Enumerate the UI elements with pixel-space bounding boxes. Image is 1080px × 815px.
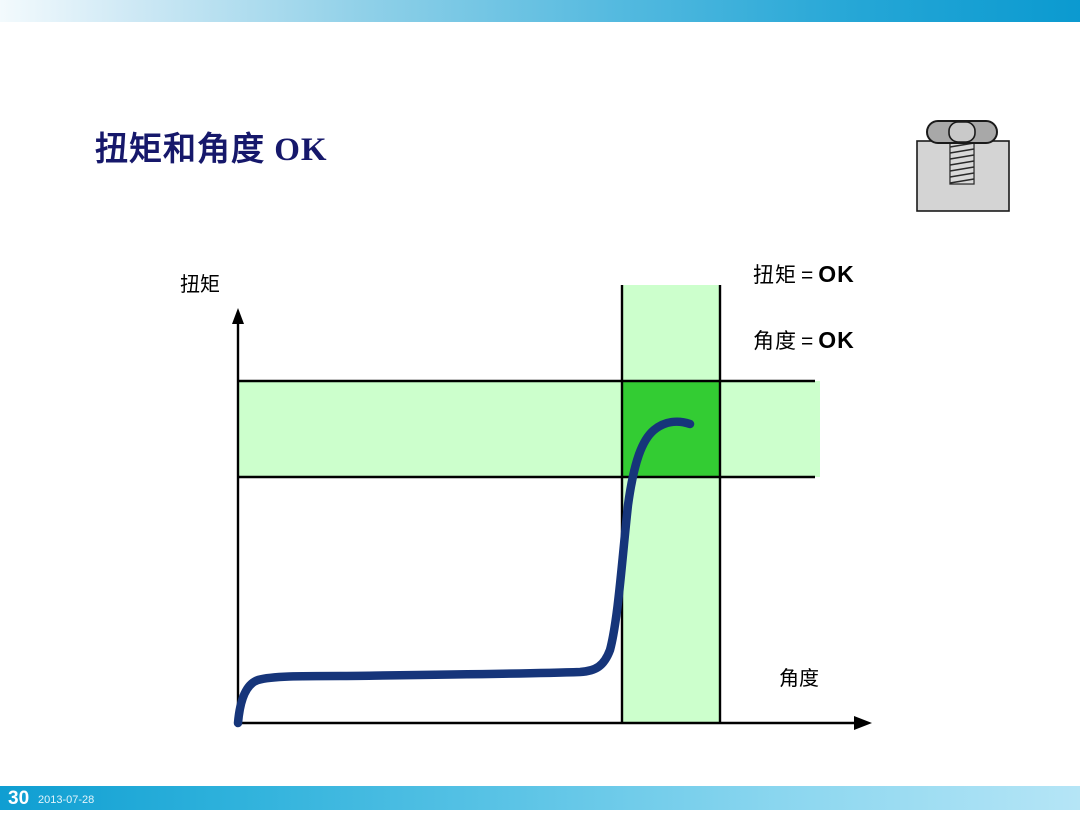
y-axis-arrow — [232, 308, 244, 324]
torque-status-value: OK — [818, 261, 855, 287]
torque-status-equals: = — [797, 264, 818, 287]
torque-status-label: 扭矩 — [753, 264, 797, 287]
angle-status-value: OK — [818, 327, 855, 353]
torque-angle-chart — [0, 0, 1080, 810]
bottom-gradient-bar — [0, 786, 1080, 810]
slide-canvas: 扭矩和角度 OK — [0, 0, 1080, 810]
angle-status-label: 角度 — [753, 330, 797, 353]
page-number: 30 — [8, 788, 29, 810]
y-axis-label: 扭矩 — [180, 268, 220, 297]
torque-ok-band — [238, 381, 820, 477]
angle-status-equals: = — [797, 330, 818, 353]
x-axis-label: 角度 — [779, 662, 819, 691]
torque-status-annotation: 扭矩=OK — [753, 259, 855, 289]
angle-ok-band — [622, 285, 720, 723]
x-axis-arrow — [854, 716, 872, 730]
angle-status-annotation: 角度=OK — [753, 325, 855, 355]
page-date: 2013-07-28 — [38, 791, 94, 809]
